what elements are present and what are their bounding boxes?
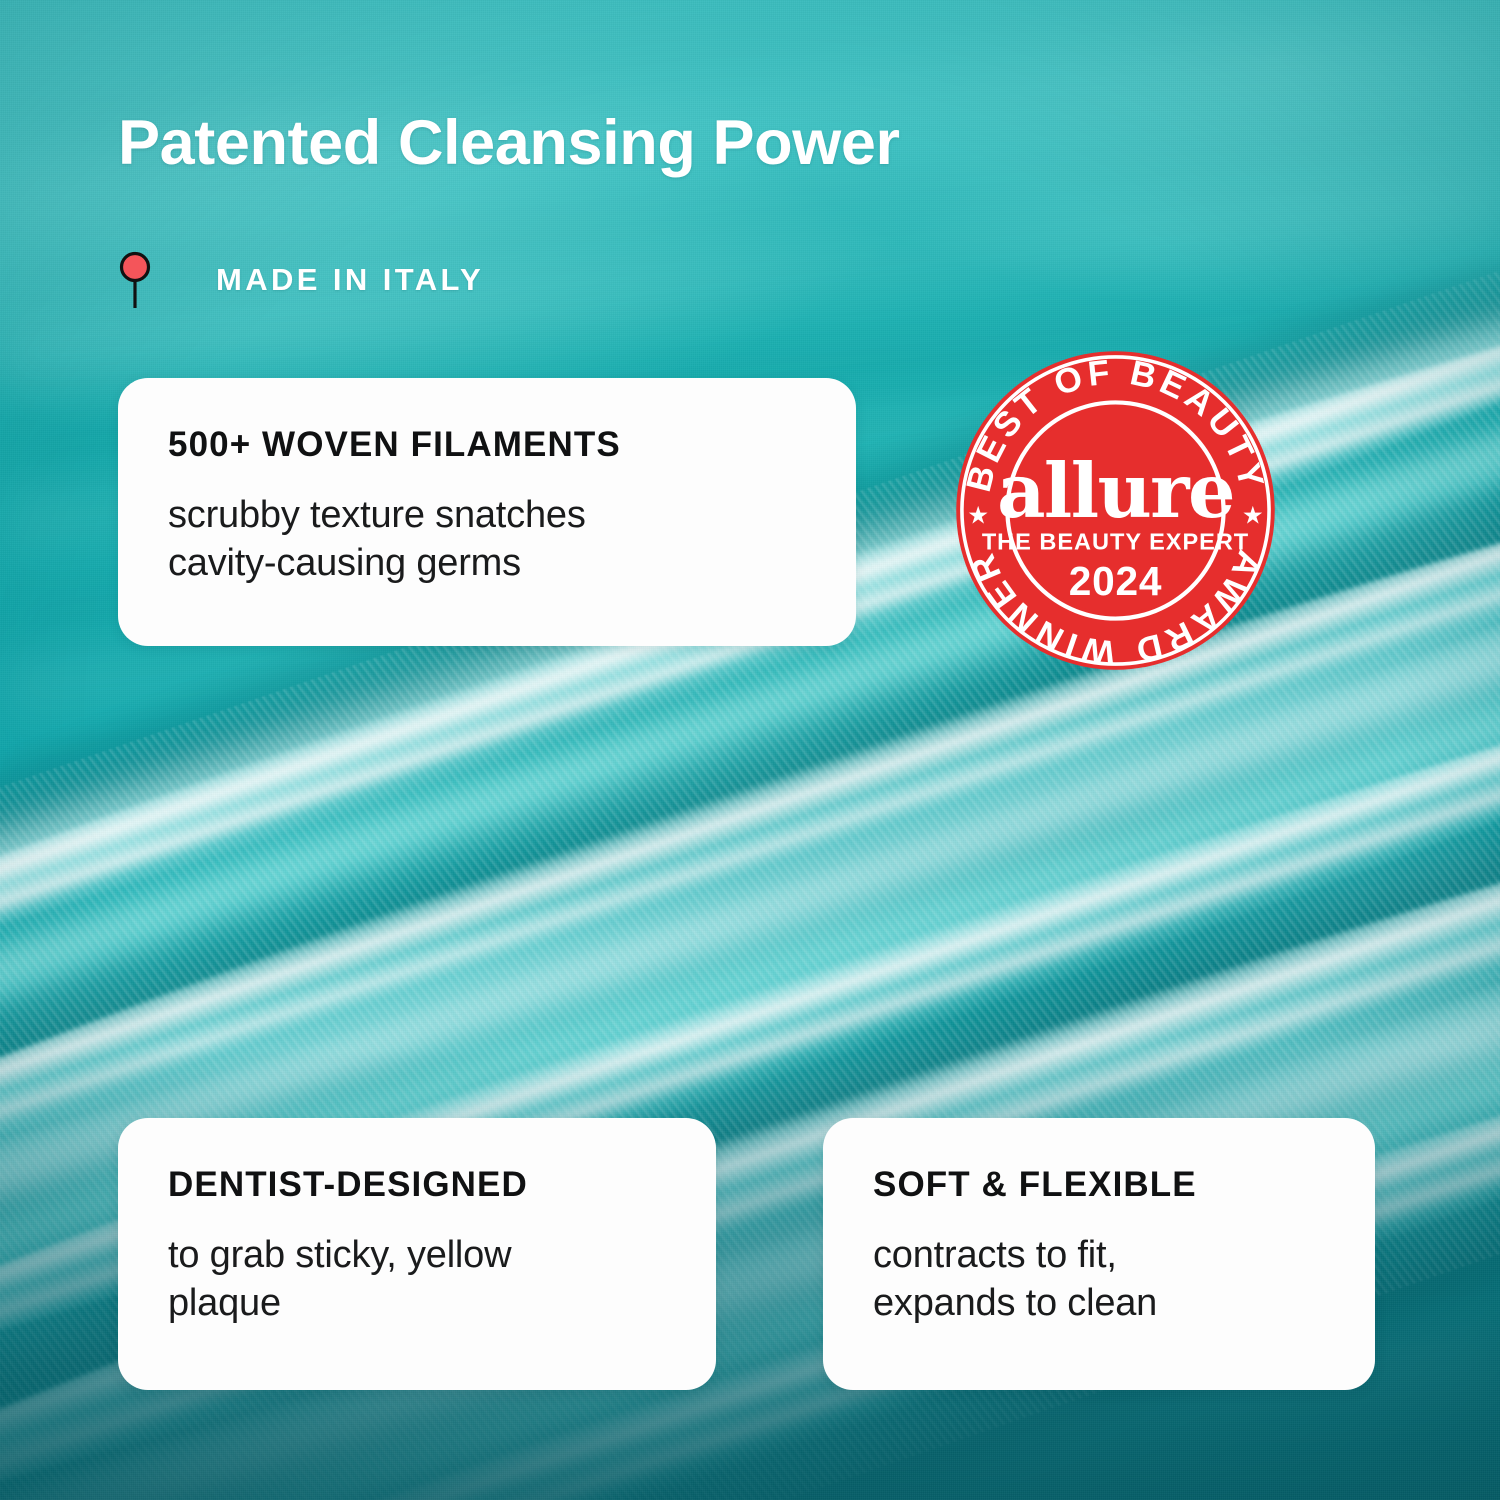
- feature-card-dentist-designed: DENTIST-DESIGNED to grab sticky, yellow …: [118, 1118, 716, 1390]
- made-in-italy-row: MADE IN ITALY: [118, 250, 484, 310]
- badge-year: 2024: [1069, 558, 1163, 604]
- map-pin-icon: [118, 251, 152, 309]
- badge-star-left-icon: ★: [967, 501, 989, 530]
- feature-card-body: to grab sticky, yellow plaque: [168, 1231, 672, 1328]
- feature-card-body: contracts to fit, expands to clean: [873, 1231, 1331, 1328]
- badge-brand-wordmark: allure: [997, 447, 1234, 535]
- feature-card-title: 500+ WOVEN FILAMENTS: [168, 426, 812, 465]
- page-title: Patented Cleansing Power: [118, 110, 900, 176]
- feature-card-body: scrubby texture snatches cavity-causing …: [168, 491, 812, 588]
- feature-card-title: DENTIST-DESIGNED: [168, 1166, 672, 1205]
- feature-card-title: SOFT & FLEXIBLE: [873, 1166, 1331, 1205]
- made-in-italy-label: MADE IN ITALY: [216, 262, 484, 298]
- badge-tagline: THE BEAUTY EXPERT: [982, 529, 1249, 555]
- feature-card-soft-flexible: SOFT & FLEXIBLE contracts to fit, expand…: [823, 1118, 1375, 1390]
- feature-card-filaments: 500+ WOVEN FILAMENTS scrubby texture sna…: [118, 378, 856, 646]
- product-feature-graphic: Patented Cleansing Power MADE IN ITALY 5…: [0, 0, 1500, 1500]
- allure-best-of-beauty-award-badge: BEST OF BEAUTY AWARD WINNER ★ ★ allure T…: [953, 348, 1278, 673]
- badge-star-right-icon: ★: [1242, 501, 1264, 530]
